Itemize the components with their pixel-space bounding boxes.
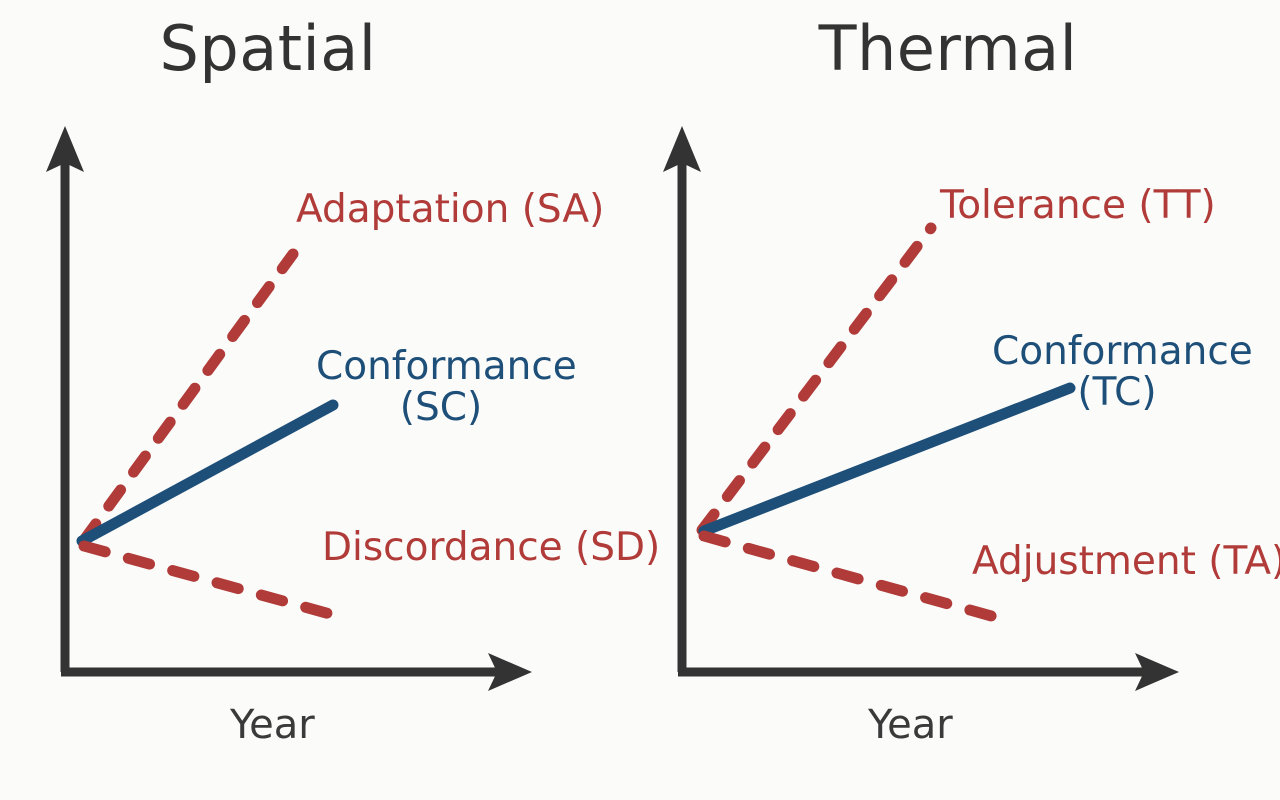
series-label-conformance-sc-line2: (SC) [316,388,566,429]
panel-thermal: Thermal Tolerance (TT) Conformance (TC) [640,0,1280,800]
series-line-discordance [84,546,330,614]
series-label-adaptation: Adaptation (SA) [296,190,604,231]
series-label-conformance-sc: Conformance (SC) [316,347,566,429]
series-line-adaptation [84,254,293,540]
series-line-conformance-sc [82,405,333,541]
panel-spatial: Spatial Adaptation (SA) Conformance (SC) [0,0,640,800]
series-label-conformance-sc-line1: Conformance [316,347,566,388]
series-label-tolerance: Tolerance (TT) [940,186,1216,227]
series-label-conformance-tc: Conformance (TC) [992,332,1242,414]
series-line-adjustment [704,536,1013,622]
y-axis-spatial [46,126,84,672]
figure-canvas: Spatial Adaptation (SA) Conformance (SC) [0,0,1280,800]
x-axis-spatial [61,653,532,691]
series-label-conformance-tc-line1: Conformance [992,332,1242,373]
series-label-conformance-tc-line2: (TC) [992,373,1242,414]
x-axis-thermal [678,653,1179,691]
y-axis-thermal [663,126,701,672]
series-label-adjustment: Adjustment (TA) [972,542,1280,583]
series-label-discordance: Discordance (SD) [322,528,660,569]
x-axis-label-thermal: Year [868,702,953,748]
x-axis-label-spatial: Year [230,702,315,748]
